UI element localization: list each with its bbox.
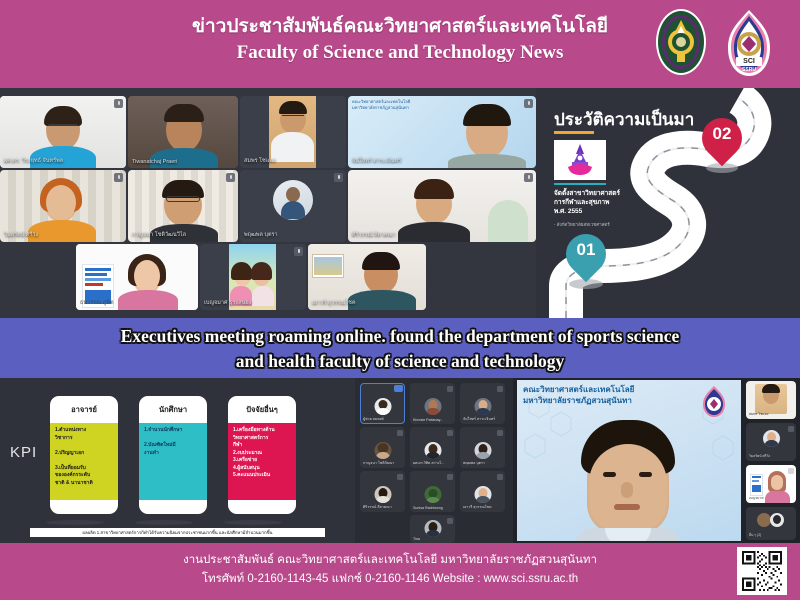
participant-name: สมพร โซแดง [749,412,768,417]
video-tile[interactable]: สมพร โซแดง [240,96,346,168]
video-tile[interactable]: วิมลรัตน์ ศรีวัง [0,170,126,242]
filmstrip-tile[interactable]: วิมลรัตน์ ศรีวัง [746,423,796,461]
roadmap-pin-01: 01 [566,234,606,288]
caption-banner: Executives meeting roaming online. found… [0,318,800,378]
ssru-university-seal-icon [655,8,707,76]
participant-tile[interactable]: พฤฒพล บุตรา [460,427,505,468]
participant-name: Tiwanatchaj Praeri [132,159,177,165]
mic-icon [447,474,453,480]
kpi-label: KPI [10,444,37,461]
participant-name: ผศ.ดร.วิทิต สว่างโ... [413,460,444,466]
video-tile[interactable]: ผศ.ดร. วีระยุทธ์ จันทร์พล [0,96,126,168]
caption-line-2: and health faculty of science and techno… [10,349,790,374]
mic-icon [524,99,533,108]
filmstrip-tile[interactable]: สมพร โซแดง [746,381,796,419]
participant-tile[interactable]: ผู้ช่วย สมพงศ์ [360,383,405,424]
roadmap-pin-02: 02 [702,118,742,172]
mic-icon [788,426,794,432]
video-tile-grid-top: ผศ.ดร. วีระยุทธ์ จันทร์พล Tiwanatchaj Pr… [0,88,536,318]
participant-name: Kinnate Pattanay... [413,418,443,422]
mic-icon [397,430,403,436]
kpi-card-header: ปัจจัยอื่นๆ [228,396,296,423]
participant-tile[interactable]: Tina [410,515,455,543]
mic-icon [497,430,503,436]
roadmap-title-underline [554,131,594,134]
participant-name: จันโิสทร์ สาระเจินทร์ [463,416,495,422]
participant-tile[interactable]: ศิริวรรณ์ ลีลาคณา [360,471,405,512]
participant-tile[interactable]: Kinnate Pattanay... [410,383,455,424]
kpi-card-body: 1.ตำแหน่งทาง วิชาการ 2.ปริญญาเอก 3.เป็นท… [50,423,118,500]
mic-icon [397,474,403,480]
video-tile[interactable]: ธนวรรณ ภูษิต [76,244,198,310]
kpi-card-students: นักศึกษา 1.จำนวนนักศึกษา 2.บัณฑิตใหม่มี … [139,396,207,514]
active-speaker-video[interactable]: คณะวิทยาศาสตร์และเทคโนโลยี มหาวิทยาลัยรา… [517,380,741,541]
roadmap-subtitle: จัดตั้งสาขาวิทยาศาสตร์ การกีฬาและสุขภาพ … [554,189,664,216]
video-tile[interactable]: เบญจมาศ ธุระสนอง [200,244,306,310]
roadmap-title: ประวัติความเป็นมา [554,106,694,133]
participant-name: พฤฒพล บุตรา [463,460,485,466]
video-tile[interactable]: Tiwanatchaj Praeri [128,96,238,168]
mic-icon [226,173,235,182]
kpi-card-body: 1.เครื่องมือทางด้าน วิทยาศาสตร์การ กีฬา … [228,423,296,500]
speaking-indicator-icon [394,385,403,392]
video-tile-active[interactable]: เยาวรี สุวรรณโชค [308,244,426,310]
participant-name: อื่น ๆ (2) [749,533,761,538]
kpi-card-shadow [135,520,193,525]
kpi-card-body: 1.จำนวนนักศึกษา 2.บัณฑิตใหม่มี งานทำ [139,423,207,500]
roadmap-pin-label: 01 [566,240,606,260]
page-footer: งานประชาสัมพันธ์ คณะวิทยาศาสตร์และเทคโนโ… [0,543,800,600]
kpi-card-header: นักศึกษา [139,396,207,423]
participant-name: พฤฒพล บุตรา [244,231,278,239]
mic-icon [114,99,123,108]
sci-ssru-logo-icon: SCI SSRU [718,8,780,78]
mic-icon [294,247,303,256]
roadmap-pin-label: 02 [702,124,742,144]
page-header: ข่าวประชาสัมพันธ์คณะวิทยาศาสตร์และเทคโนโ… [0,0,800,88]
mic-icon [447,430,453,436]
participant-tile[interactable]: เยาวรี สุวรรณโชค [460,471,505,512]
participant-name: เบญจมาศ ธุระสนอง [204,299,251,307]
participant-tile[interactable]: Sunisa Rachiwong [410,471,455,512]
participant-filmstrip: สมพร โซแดง วิมลรัตน์ ศรีวัง เบญจม [743,378,800,543]
caption-line-1: Executives meeting roaming online. found… [10,324,790,349]
ssru-emblem-icon [554,140,606,180]
video-tile[interactable]: คณะวิทยาศาสตร์และเทคโนโลยีมหาวิทยาลัยราช… [348,96,536,168]
footer-contact-block: งานประชาสัมพันธ์ คณะวิทยาศาสตร์และเทคโนโ… [60,551,720,589]
video-tile[interactable]: พฤฒพล บุตรา [240,170,346,242]
kpi-card-shadow [46,520,104,525]
mic-icon [497,474,503,480]
participant-name: เยาวรี สุวรรณโชค [463,504,491,510]
participant-name: สมพร โซแดง [244,157,276,165]
participant-name: ธนวรรณ ภูษิต [80,299,114,307]
meeting-screenshot-top: ผศ.ดร. วีระยุทธ์ จันทร์พล Tiwanatchaj Pr… [0,88,800,318]
kpi-footer-note: ผลผลิต 1.สาขาวิทยาศาสตร์การกีฬาได้รับควา… [30,528,325,537]
participant-name: ผศ.ดร. วีระยุทธ์ จันทร์พล [4,157,63,165]
footer-line-2: โทรศัพท์ 0-2160-1143-45 แฟกซ์ 0-2160-114… [60,570,720,589]
video-tile[interactable]: ศิริวรรณ์ ลีลาคณา [348,170,536,242]
kpi-card-header: อาจารย์ [50,396,118,423]
filmstrip-tile-overflow[interactable]: อื่น ๆ (2) [746,507,796,540]
participant-grid: ผู้ช่วย สมพงศ์ Kinnate Pattanay... จันโิ… [355,378,513,543]
mic-icon [788,468,794,474]
qr-code[interactable] [737,547,787,595]
roadmap-divider [554,183,606,185]
participant-name: ศิริวรรณ์ ลีลาคณา [352,231,396,239]
participant-name: กาญจนา โชติวัฒนวิไล [132,231,186,239]
roadmap-note: - สังกัดวิทยาลัยสหเวชศาสตร์ [554,221,674,228]
participant-name: Tina [413,537,420,541]
participant-name: เบญจมาศ [749,496,763,501]
svg-text:SSRU: SSRU [742,67,756,73]
speaker-pane: คณะวิทยาศาสตร์และเทคโนโลยี มหาวิทยาลัยรา… [513,378,800,543]
kpi-card-shadow [224,520,282,525]
mic-icon [447,386,453,392]
participant-name: กาญจนา โชติวัฒนา [363,460,394,466]
roadmap-slide: ประวัติความเป็นมา จัดตั้งสาขาวิทยาศาสตร์… [536,88,800,318]
participant-name: วิมลรัตน์ ศรีวัง [749,454,770,459]
participant-name: เยาวรี สุวรรณโชค [312,299,356,307]
participant-tile[interactable]: ผศ.ดร.วิทิต สว่างโ... [410,427,455,468]
participant-name: Sunisa Rachiwong [413,506,443,510]
participant-name: วิมลรัตน์ ศรีวัง [4,231,38,239]
kpi-card-teachers: อาจารย์ 1.ตำแหน่งทาง วิชาการ 2.ปริญญาเอก… [50,396,118,514]
svg-text:SCI: SCI [743,58,755,65]
footer-line-1: งานประชาสัมพันธ์ คณะวิทยาศาสตร์และเทคโนโ… [60,551,720,570]
mic-icon [114,173,123,182]
participant-tile[interactable]: กาญจนา โชติวัฒนา [360,427,405,468]
participant-name: จันโิสทร์ สาระเจินทร์ [352,157,401,165]
mic-icon [447,518,453,524]
participant-name: ศิริวรรณ์ ลีลาคณา [363,504,392,510]
meeting-screenshot-bottom: KPI อาจารย์ 1.ตำแหน่งทาง วิชาการ 2.ปริญญ… [0,378,800,543]
participant-name: ผู้ช่วย สมพงศ์ [363,416,384,422]
video-tile[interactable]: กาญจนา โชติวัฒนวิไล [128,170,238,242]
filmstrip-tile[interactable]: เบญจมาศ [746,465,796,503]
kpi-card-other-factors: ปัจจัยอื่นๆ 1.เครื่องมือทางด้าน วิทยาศาส… [228,396,296,514]
mic-icon [524,173,533,182]
participant-tile[interactable]: จันโิสทร์ สาระเจินทร์ [460,383,505,424]
qr-code-image [741,551,783,591]
mic-icon [334,173,343,182]
caption-text-block: Executives meeting roaming online. found… [10,324,790,374]
kpi-slide: KPI อาจารย์ 1.ตำแหน่งทาง วิชาการ 2.ปริญญ… [0,378,355,543]
mic-icon [497,386,503,392]
